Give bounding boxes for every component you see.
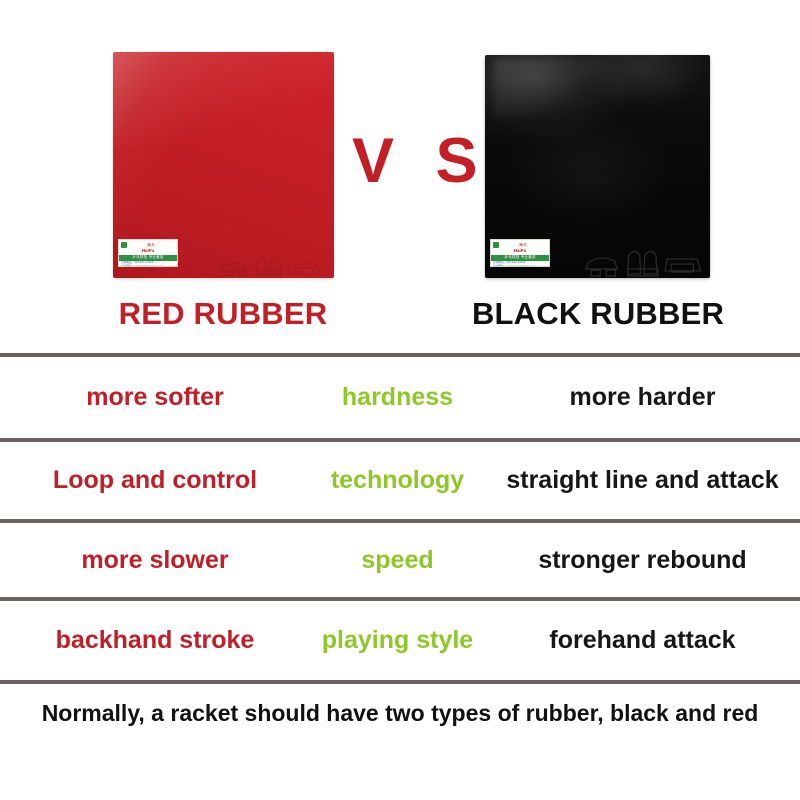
- comparison-table: more softer hardness more harder Loop an…: [0, 353, 800, 684]
- cell-black-value: straight line and attack: [485, 466, 800, 495]
- table-divider: [0, 680, 800, 684]
- table-row: backhand stroke playing style forehand a…: [0, 601, 800, 680]
- red-sheet-embossed-logo: [219, 250, 325, 276]
- brand-name-cn: 海夫: [127, 243, 175, 247]
- black-sheet-embossed-logo: [582, 247, 704, 277]
- cell-black-value: more harder: [485, 383, 800, 412]
- cell-red-value: more softer: [0, 383, 310, 412]
- black-sheet-brand-label: 海夫 HaiFu 乒乓球拍 专业套胶 咨询电话：010-812-33328 官方…: [490, 239, 550, 267]
- table-row: Loop and control technology straight lin…: [0, 442, 800, 519]
- cell-attribute: hardness: [310, 383, 485, 412]
- cell-red-value: backhand stroke: [0, 626, 310, 655]
- cell-attribute: technology: [310, 466, 485, 495]
- label-contact-line-2: 官方网站：www.haifupingpang.com: [119, 265, 177, 267]
- footer-note: Normally, a racket should have two types…: [0, 700, 800, 727]
- red-rubber-sheet-image: 海夫 HaiFu 乒乓球拍 专业套胶 咨询电话：010-812-33328 官方…: [113, 52, 334, 278]
- table-row: more softer hardness more harder: [0, 357, 800, 438]
- red-sheet-brand-label: 海夫 HaiFu 乒乓球拍 专业套胶 咨询电话：010-812-33328 官方…: [118, 239, 178, 267]
- label-contact-line-2: 官方网站：www.haifupingpang.com: [491, 265, 549, 267]
- red-rubber-caption: RED RUBBER: [73, 296, 373, 332]
- cell-black-value: stronger rebound: [485, 546, 800, 575]
- red-sheet-gloss: [113, 52, 334, 147]
- cell-red-value: more slower: [0, 546, 310, 575]
- cell-attribute: speed: [310, 546, 485, 575]
- cell-black-value: forehand attack: [485, 626, 800, 655]
- versus-label: V S: [340, 118, 480, 204]
- cell-attribute: playing style: [310, 626, 485, 655]
- black-rubber-sheet-image: 海夫 HaiFu 乒乓球拍 专业套胶 咨询电话：010-812-33328 官方…: [485, 55, 710, 278]
- black-sheet-gloss: [494, 59, 611, 117]
- brand-name-cn: 海夫: [499, 243, 547, 247]
- rubber-comparison-hero: 海夫 HaiFu 乒乓球拍 专业套胶 咨询电话：010-812-33328 官方…: [0, 0, 800, 353]
- black-rubber-caption: BLACK RUBBER: [448, 296, 748, 332]
- cell-red-value: Loop and control: [0, 466, 310, 495]
- table-row: more slower speed stronger rebound: [0, 523, 800, 597]
